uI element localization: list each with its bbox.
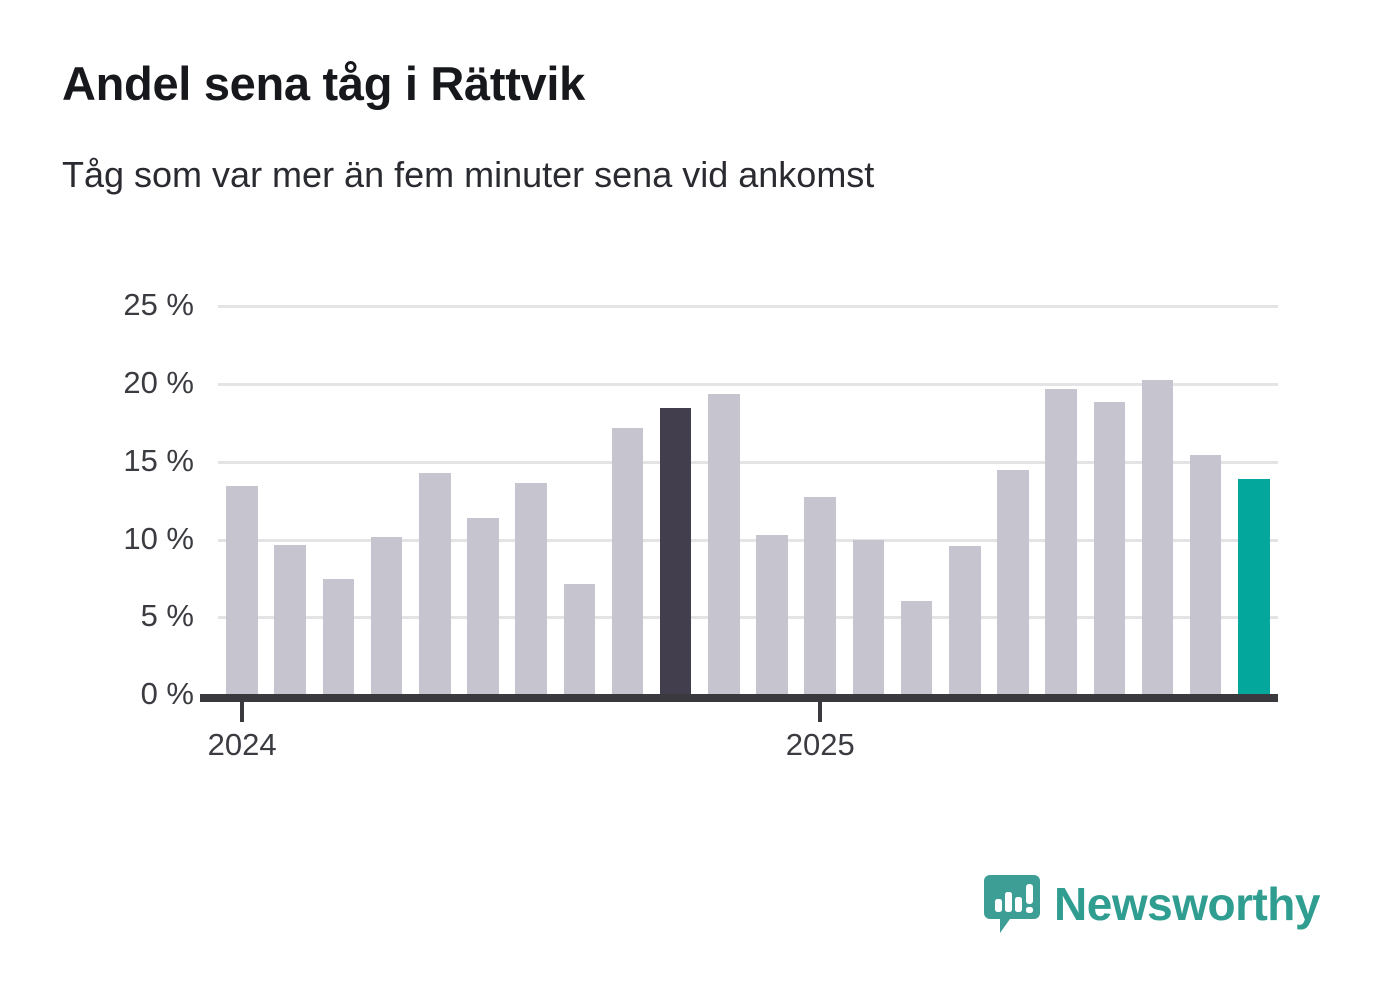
brand-footer: Newsworthy [984, 868, 1320, 940]
bar [901, 601, 933, 694]
bar [1142, 380, 1174, 694]
bar [708, 394, 740, 694]
bar [853, 540, 885, 694]
bar [949, 546, 981, 694]
x-axis-tick-label: 2025 [786, 727, 855, 763]
y-axis-tick-label: 10 % [123, 521, 194, 557]
y-axis-tick-label: 0 % [141, 676, 194, 712]
brand-name: Newsworthy [1054, 881, 1320, 927]
bar-series [218, 282, 1278, 694]
bar [1190, 455, 1222, 694]
x-axis-tick-label: 2024 [208, 727, 277, 763]
page-title: Andel sena tåg i Rättvik [62, 58, 1322, 111]
bar [1238, 479, 1270, 694]
plot-area [218, 282, 1278, 694]
chart-bubble-icon [984, 873, 1040, 935]
bar [371, 537, 403, 694]
y-axis-tick-label: 15 % [123, 443, 194, 479]
bar [515, 483, 547, 694]
bar [997, 470, 1029, 694]
y-axis-tick-label: 5 % [141, 598, 194, 634]
bar [226, 486, 258, 694]
chart-header: Andel sena tåg i Rättvik Tåg som var mer… [62, 58, 1322, 196]
y-axis-tick-label: 25 % [123, 287, 194, 323]
bar-chart: 0 %5 %10 %15 %20 %25 % 20242025 [62, 282, 1322, 782]
bar [660, 408, 692, 694]
plot-wrapper: 0 %5 %10 %15 %20 %25 % [62, 282, 1322, 702]
chart-page: Andel sena tåg i Rättvik Tåg som var mer… [0, 0, 1382, 999]
bar [274, 545, 306, 694]
bar [612, 428, 644, 694]
x-axis-tick-mark [818, 702, 822, 722]
chart-subtitle: Tåg som var mer än fem minuter sena vid … [62, 153, 1322, 196]
bar [1094, 402, 1126, 694]
bar [323, 579, 355, 694]
y-axis-tick-label: 20 % [123, 365, 194, 401]
bar [756, 535, 788, 694]
y-axis-labels: 0 %5 %10 %15 %20 %25 % [62, 282, 210, 702]
bar [419, 473, 451, 694]
bar [1045, 389, 1077, 694]
bar [467, 518, 499, 694]
x-axis-tick-mark [240, 702, 244, 722]
x-axis-ticks: 20242025 [218, 694, 1278, 774]
bar [804, 497, 836, 694]
bar [564, 584, 596, 694]
